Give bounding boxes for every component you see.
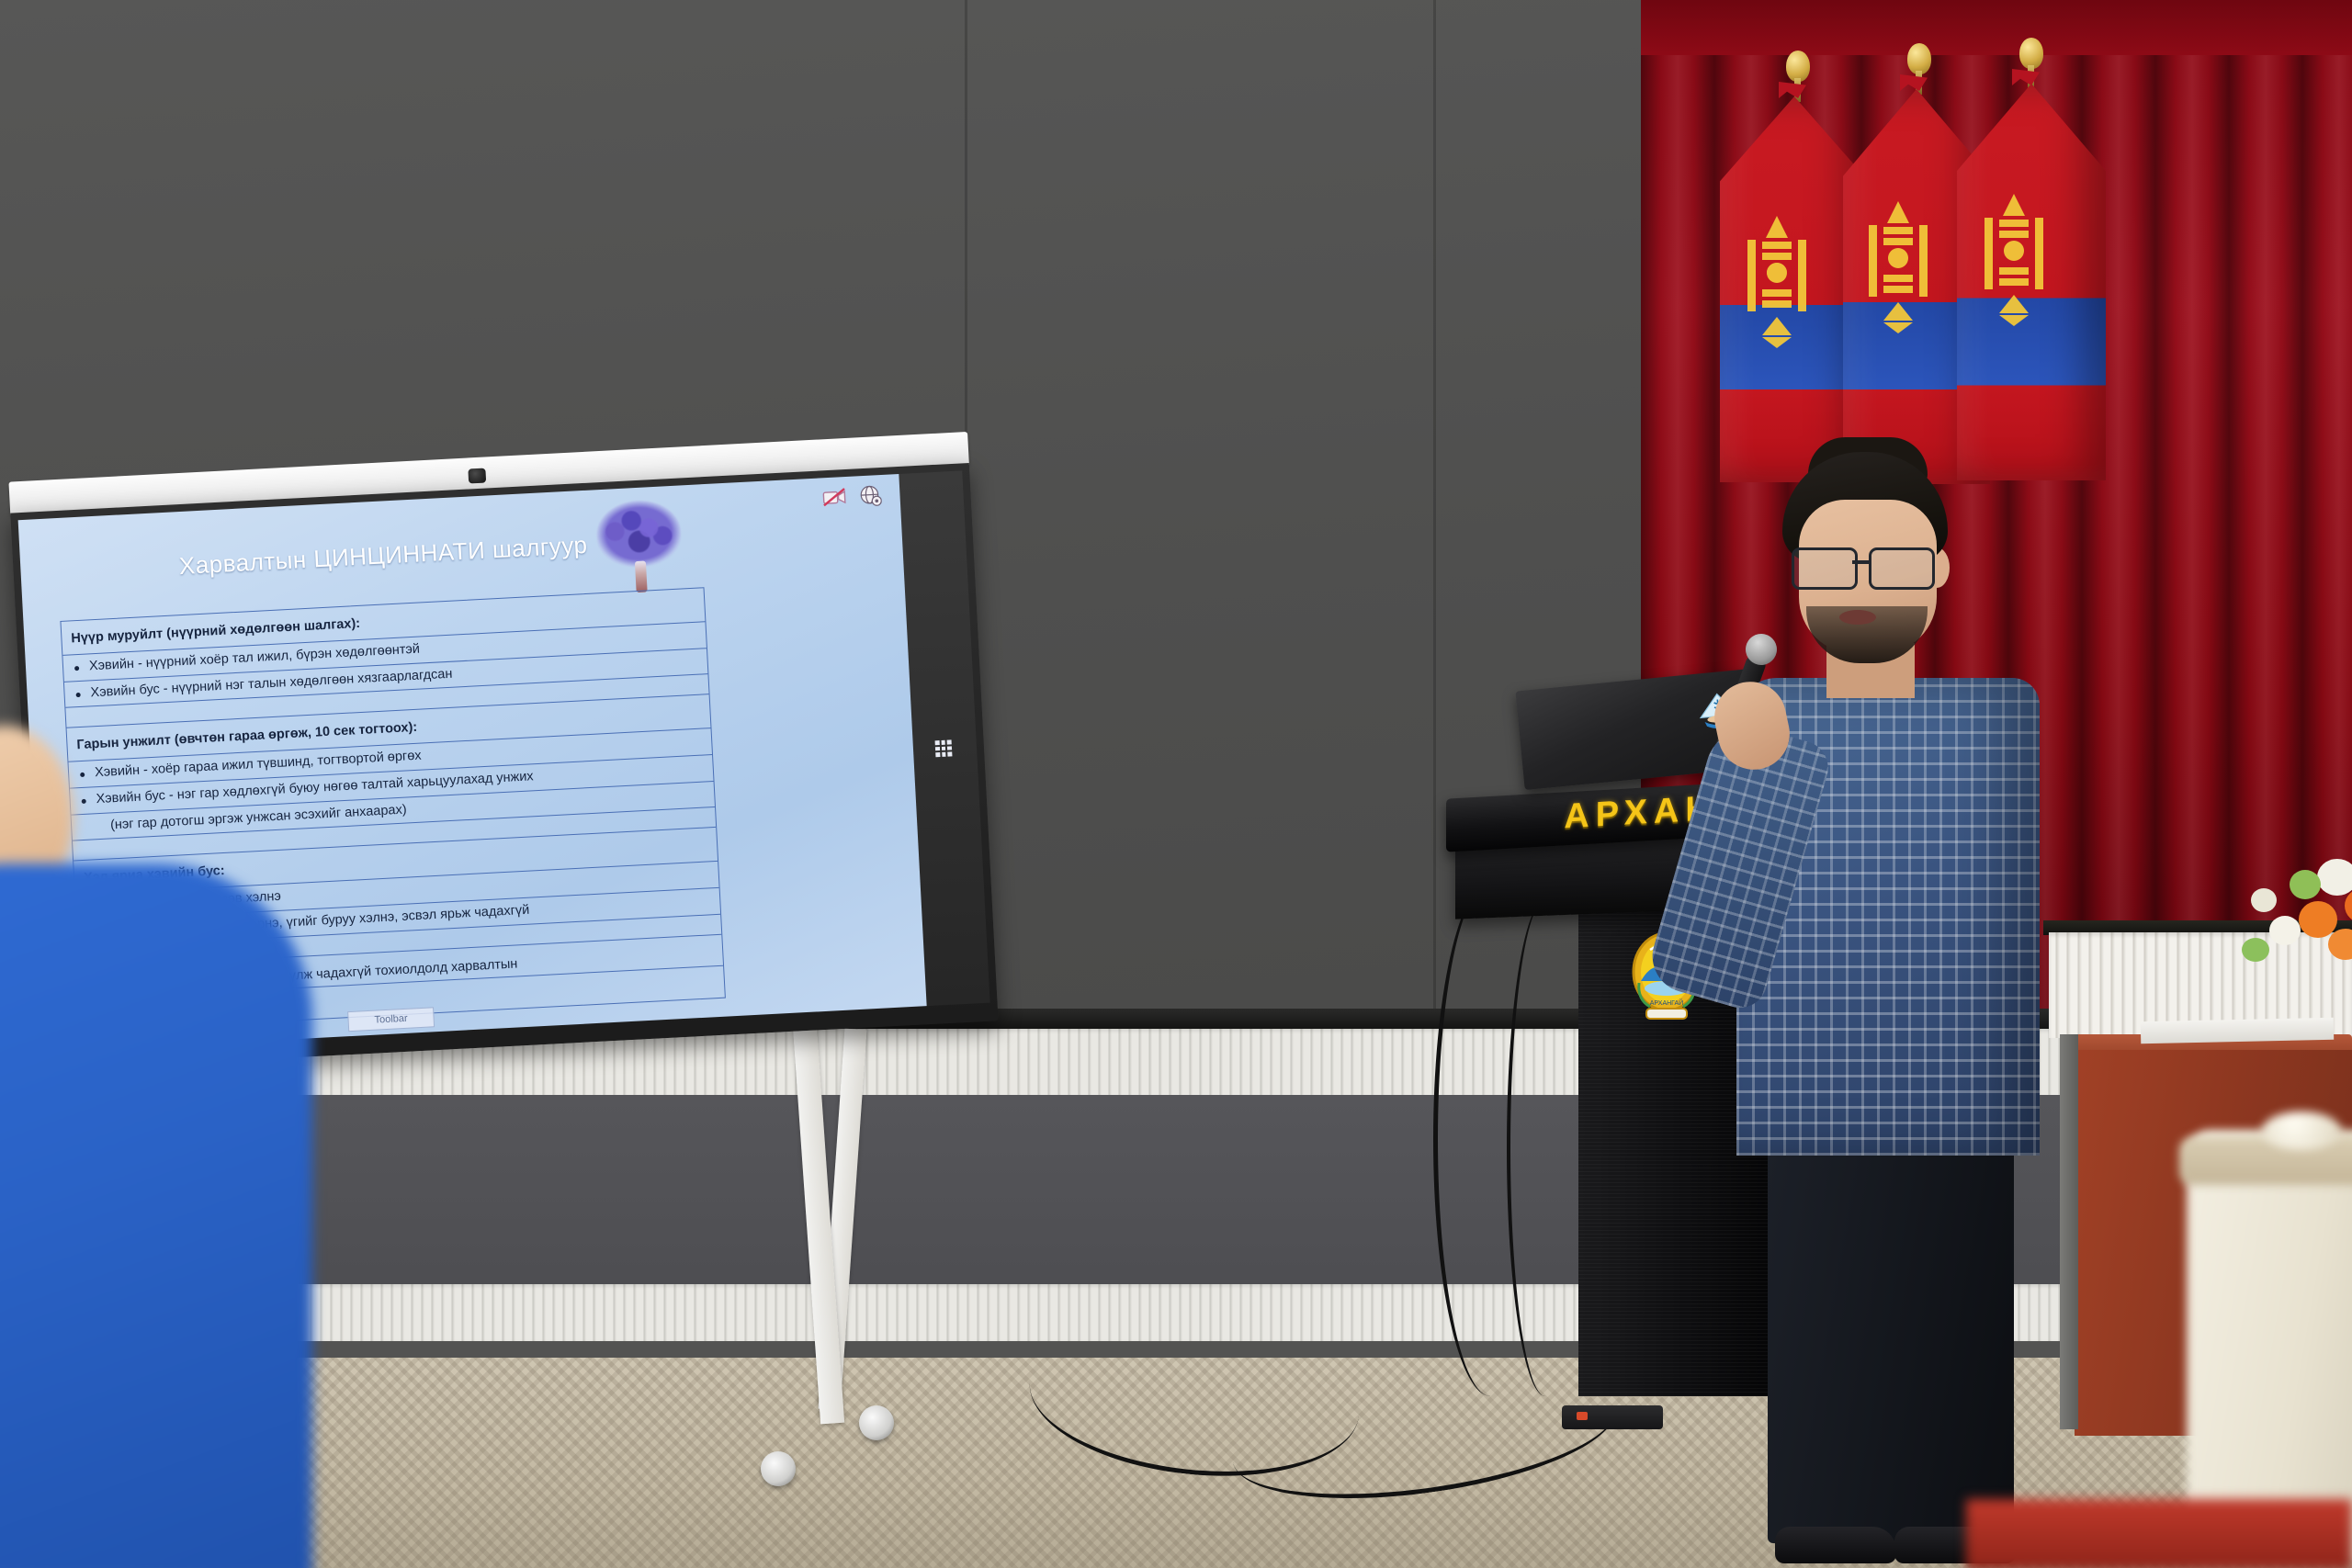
soyombo-icon [1861, 199, 1935, 337]
flag-ribbon [1779, 82, 1806, 98]
table-edge [2060, 1034, 2078, 1429]
lens-right [1869, 547, 1935, 590]
no-video-icon [822, 487, 847, 508]
beverage-dispenser [2187, 1130, 2352, 1562]
flag-finial-icon [1907, 43, 1931, 74]
papers-on-table [2141, 1018, 2334, 1043]
soyombo-icon [1977, 192, 2051, 330]
scene-root: Харвалтын ЦИНЦИННАТИ шалгуур Нүүр муруйл… [0, 0, 2352, 1568]
mongolian-flag [1957, 84, 2106, 480]
podium-cable [1507, 900, 1584, 1396]
audience-shirt [0, 863, 312, 1568]
lens-left [1792, 547, 1858, 590]
power-led-icon [1577, 1412, 1588, 1420]
soyombo-icon [1740, 214, 1814, 352]
glasses-bridge [1852, 560, 1869, 564]
foreground-red-object [1966, 1499, 2352, 1568]
curtain-valance [1641, 0, 2352, 55]
network-globe-icon [859, 484, 882, 507]
flag-finial-icon [2019, 38, 2043, 69]
stand-caster-left [761, 1451, 796, 1486]
apps-grid-icon[interactable] [935, 739, 953, 757]
speaker-trousers [1768, 1139, 2014, 1543]
flower-arrangement [2233, 850, 2352, 987]
wall-seam [1433, 0, 1436, 1010]
brain-stem-graphic [635, 561, 648, 593]
speaker-mouth [1839, 610, 1876, 625]
speaker-person [1727, 452, 2049, 1554]
svg-text:АРХАНГАЙ: АРХАНГАЙ [1650, 998, 1683, 1007]
flag-ribbon [2012, 69, 2040, 85]
toolbar-chip[interactable]: Toolbar [347, 1007, 435, 1032]
speaker-shoe-left [1775, 1527, 1896, 1563]
audience-member [0, 726, 340, 1568]
flag-finial-icon [1786, 51, 1810, 82]
stand-caster-right [859, 1405, 894, 1440]
camera-icon [468, 468, 486, 484]
display-status-icons [822, 484, 882, 509]
dispenser-knob [2262, 1111, 2341, 1150]
eyeglasses-icon [1792, 547, 1948, 588]
flag-ribbon [1900, 74, 1928, 91]
